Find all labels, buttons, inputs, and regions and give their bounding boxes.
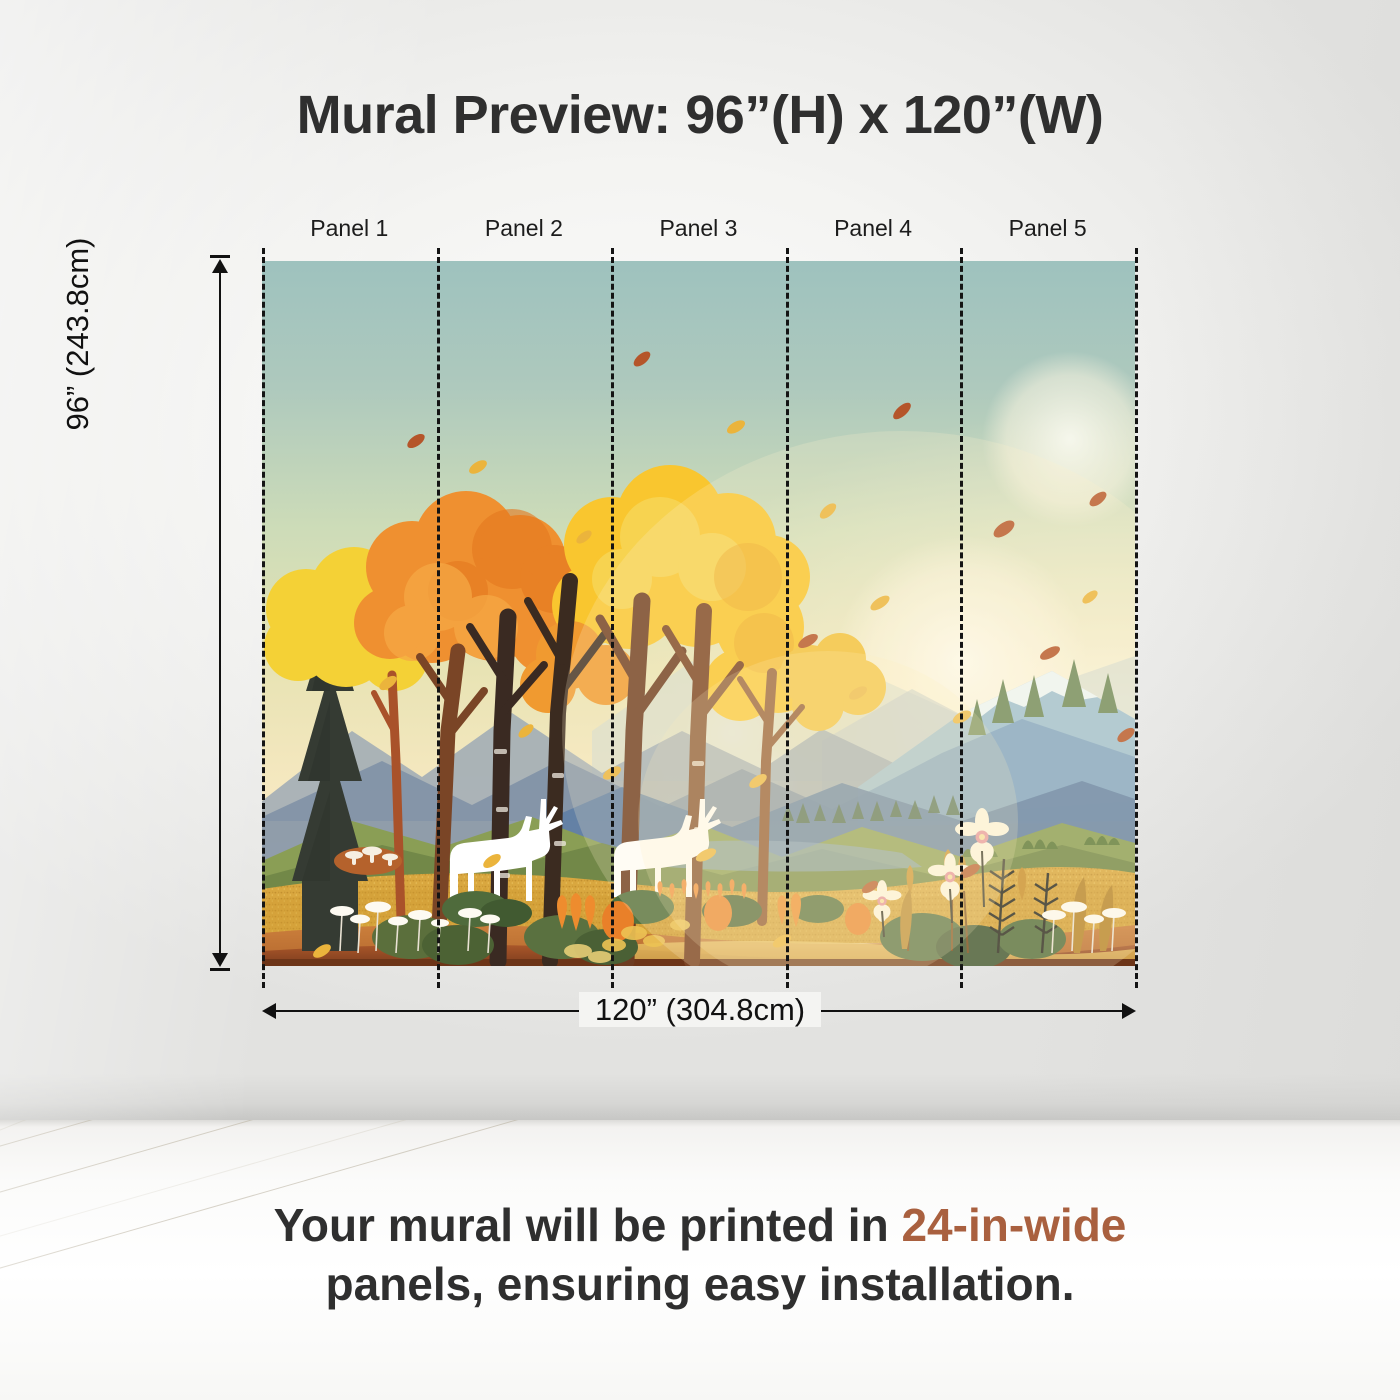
width-dimension-arrow [258, 996, 1140, 1026]
panel-label-1: Panel 1 [262, 215, 437, 242]
width-arrow-shaft [270, 1010, 1128, 1012]
mural-artwork-svg [262, 261, 1135, 966]
footer-caption: Your mural will be printed in 24-in-wide… [70, 1196, 1330, 1314]
panel-label-3: Panel 3 [611, 215, 786, 242]
panel-label-2: Panel 2 [437, 215, 612, 242]
height-arrow-head-bottom [212, 953, 228, 967]
mural-preview-image [262, 261, 1135, 966]
wall-bottom-shadow [0, 1074, 1400, 1120]
caption-highlight: 24-in-wide [901, 1199, 1126, 1251]
height-arrow-head-top [212, 259, 228, 273]
panel-label-5: Panel 5 [960, 215, 1135, 242]
panel-label-row: Panel 1Panel 2Panel 3Panel 4Panel 5 [262, 215, 1135, 249]
panel-label-4: Panel 4 [786, 215, 961, 242]
page-title: Mural Preview: 96”(H) x 120”(W) [0, 84, 1400, 146]
height-dimension-label: 96” (243.8cm) [60, 184, 96, 484]
caption-line1-text: Your mural will be printed in [274, 1199, 902, 1251]
height-tick-top [210, 255, 230, 258]
caption-line-2: panels, ensuring easy installation. [70, 1255, 1330, 1314]
height-arrow-shaft [219, 267, 221, 959]
floor-plank-line [0, 1120, 1400, 1179]
height-tick-bottom [210, 968, 230, 971]
caption-line-1: Your mural will be printed in 24-in-wide [70, 1196, 1330, 1255]
width-arrow-head-right [1122, 1003, 1136, 1019]
height-dimension-arrow [205, 255, 235, 971]
width-arrow-head-left [262, 1003, 276, 1019]
floor-wall-joint [0, 1120, 1400, 1127]
